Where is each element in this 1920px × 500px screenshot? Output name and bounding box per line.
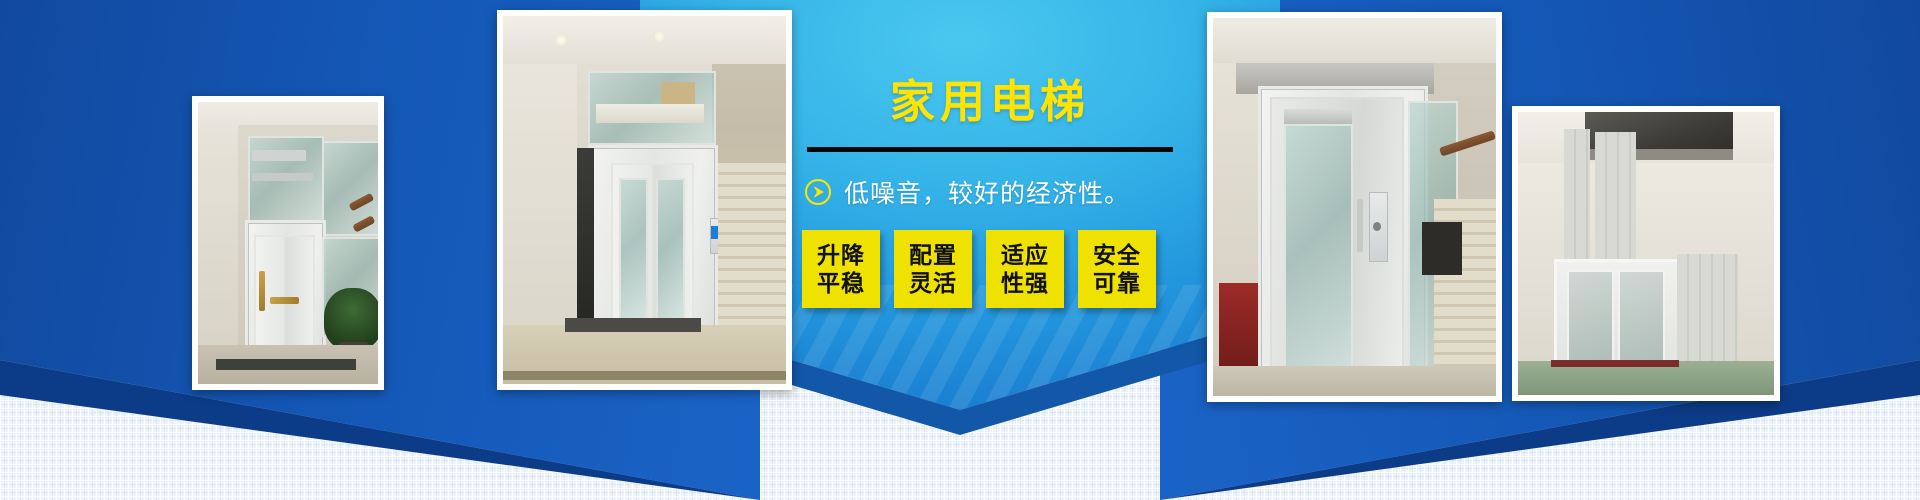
feature-tag-line1: 升降 <box>817 241 865 270</box>
feature-tag-line2: 可靠 <box>1093 269 1141 298</box>
feature-tag[interactable]: 升降 平稳 <box>802 230 880 308</box>
subtitle-text: 低噪音，较好的经济性。 <box>844 174 1130 210</box>
home-elevator-banner: 家用电梯 低噪音，较好的经济性。 升降 平稳 配置 灵活 适应 性强 <box>0 0 1920 500</box>
feature-tag[interactable]: 适应 性强 <box>986 230 1064 308</box>
feature-tag[interactable]: 安全 可靠 <box>1078 230 1156 308</box>
feature-tag-line1: 适应 <box>1001 241 1049 270</box>
feature-tag-line2: 性强 <box>1001 269 1049 298</box>
photo-stainless-elevator-staircase <box>1207 12 1502 402</box>
feature-tag-list: 升降 平稳 配置 灵活 适应 性强 安全 可靠 <box>800 230 1180 308</box>
banner-text-block: 家用电梯 低噪音，较好的经济性。 升降 平稳 配置 灵活 适应 性强 <box>800 78 1180 308</box>
page-title: 家用电梯 <box>800 78 1180 125</box>
feature-tag-line1: 配置 <box>909 241 957 270</box>
title-divider <box>807 147 1173 152</box>
circled-play-arrow-icon <box>804 178 832 206</box>
feature-tag[interactable]: 配置 灵活 <box>894 230 972 308</box>
photo-lobby-elevator-stairs <box>497 10 792 390</box>
photo-elevator-installation <box>1512 106 1780 401</box>
feature-tag-line2: 灵活 <box>909 269 957 298</box>
feature-tag-line2: 平稳 <box>817 269 865 298</box>
photo-home-elevator-glass-shaft <box>192 96 384 390</box>
feature-tag-line1: 安全 <box>1093 241 1141 270</box>
subtitle-row: 低噪音，较好的经济性。 <box>800 174 1180 210</box>
